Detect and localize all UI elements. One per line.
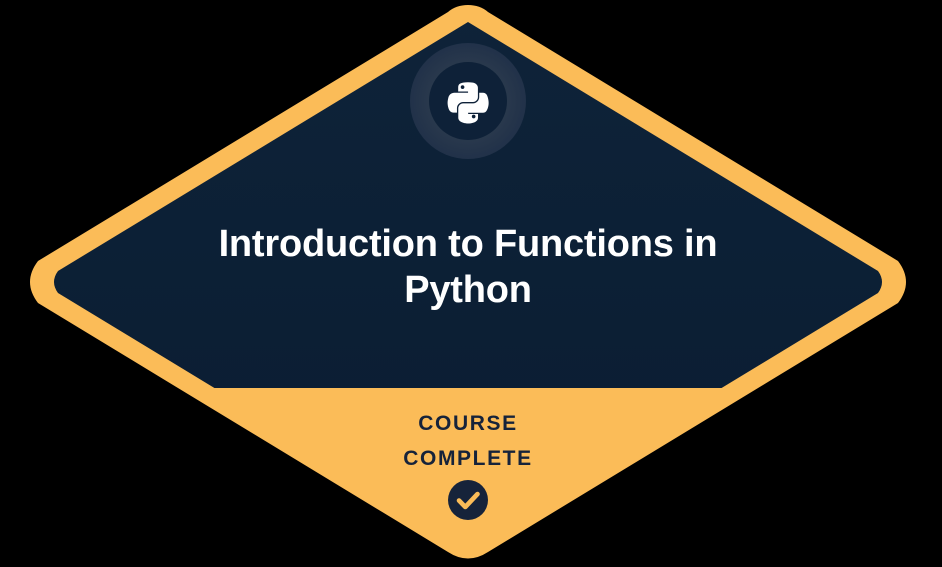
badge-graphic	[0, 0, 942, 567]
badge-canvas: Introduction to Functions in Python COUR…	[0, 0, 942, 567]
check-circle-icon	[448, 480, 488, 520]
